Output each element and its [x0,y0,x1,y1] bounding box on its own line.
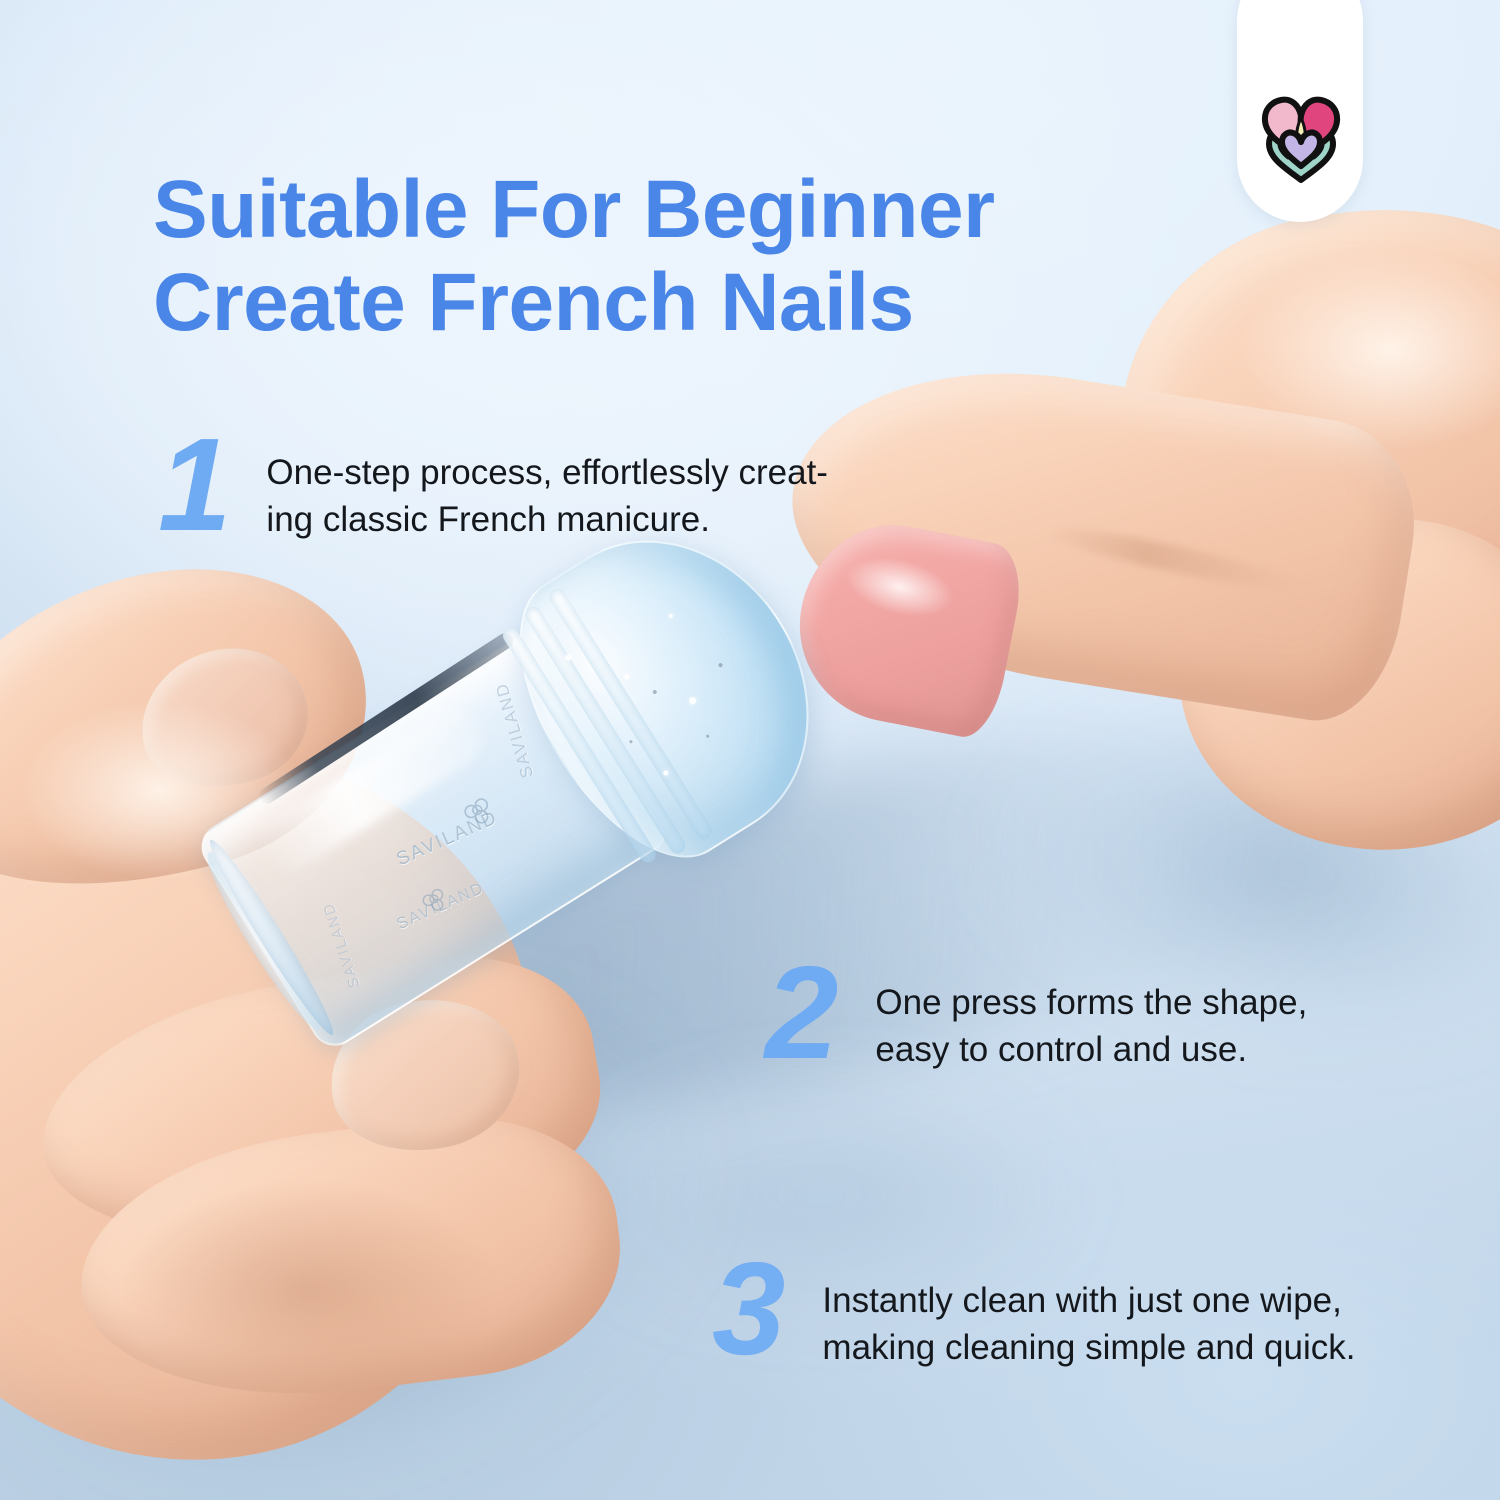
saviland-flower-logo-icon [1255,88,1347,188]
step-1-number: 1 [158,424,228,545]
step-2: 2 One press forms the shape, easy to con… [765,952,1345,1074]
left-hand-shade [120,1180,500,1400]
page-title: Suitable For Beginner Create French Nail… [153,163,1193,350]
right-hand-highlight [1240,250,1500,450]
step-1-text: One-step process, effortlessly creat- in… [266,450,866,544]
step-3-text: Instantly clean with just one wipe, maki… [822,1278,1382,1372]
step-3: 3 Instantly clean with just one wipe, ma… [712,1248,1382,1372]
step-3-number: 3 [712,1248,782,1369]
step-2-number: 2 [765,952,835,1073]
step-2-text: One press forms the shape, easy to contr… [875,980,1345,1074]
step-1: 1 One-step process, effortlessly creat- … [158,424,866,545]
infographic-canvas: SAVILAND SAVILAND SAVILAND SAVILAND Su [0,0,1500,1500]
